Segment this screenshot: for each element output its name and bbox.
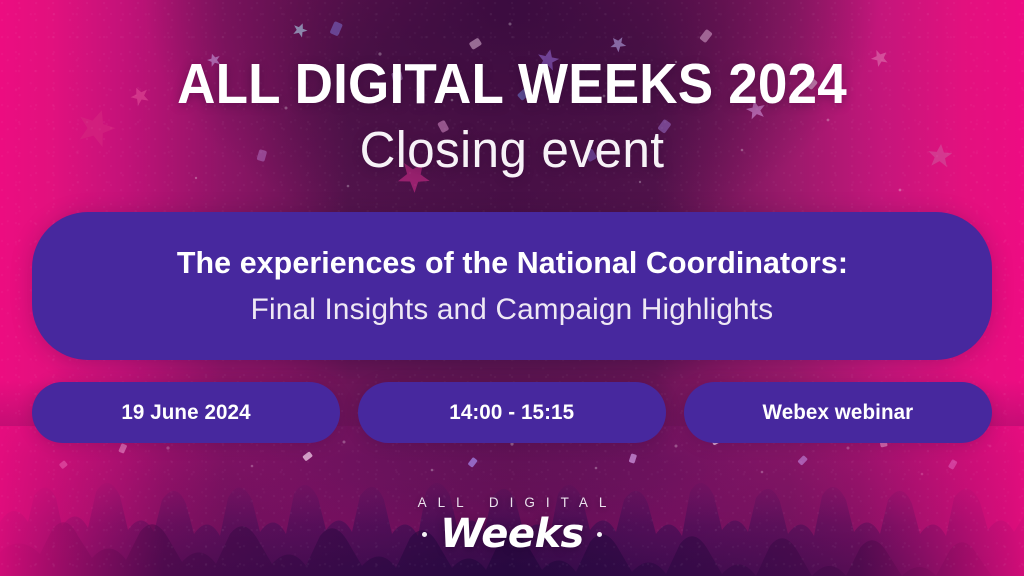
session-title-primary: The experiences of the National Coordina… xyxy=(176,245,847,281)
logo-dot-left-icon xyxy=(422,532,427,537)
detail-pill-date: 19 June 2024 xyxy=(32,382,340,443)
event-details-row: 19 June 2024 14:00 - 15:15 Webex webinar xyxy=(32,382,992,443)
logo-main-line: Weeks xyxy=(0,514,1024,554)
page-subtitle: Closing event xyxy=(15,122,1008,177)
all-digital-weeks-logo: ALL DIGITAL Weeks xyxy=(0,496,1024,555)
session-title-card: The experiences of the National Coordina… xyxy=(32,212,992,360)
detail-pill-platform-label: Webex webinar xyxy=(763,401,914,425)
logo-wordmark: Weeks xyxy=(440,514,584,554)
detail-pill-time: 14:00 - 15:15 xyxy=(358,382,666,443)
detail-pill-time-label: 14:00 - 15:15 xyxy=(450,401,575,425)
logo-dot-right-icon xyxy=(597,532,602,537)
detail-pill-date-label: 19 June 2024 xyxy=(121,401,250,425)
detail-pill-platform: Webex webinar xyxy=(684,382,992,443)
session-title-secondary: Final Insights and Campaign Highlights xyxy=(251,293,774,328)
page-title: ALL DIGITAL WEEKS 2024 xyxy=(36,56,988,113)
event-banner: ALL DIGITAL WEEKS 2024 Closing event The… xyxy=(0,0,1024,576)
logo-top-line: ALL DIGITAL xyxy=(0,496,1024,510)
